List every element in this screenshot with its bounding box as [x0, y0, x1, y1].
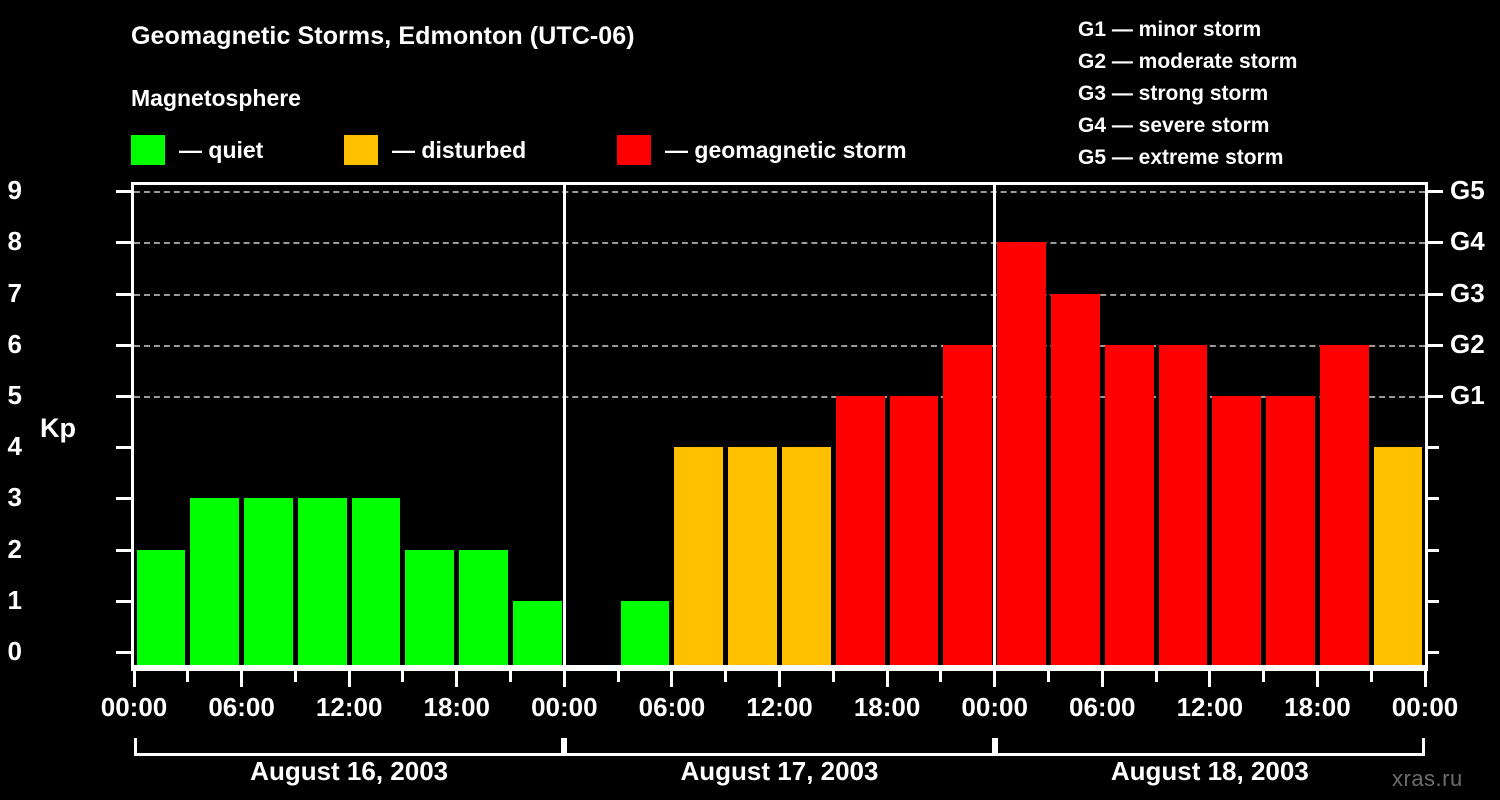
legend-label: — disturbed [392, 139, 526, 162]
y-tick-label-3: 3 [0, 484, 22, 510]
y-tick-mark-3 [116, 497, 131, 500]
x-minor-tick-mark [724, 671, 727, 682]
x-minor-tick-mark [617, 671, 620, 682]
x-tick-mark [563, 671, 566, 687]
bar [1105, 345, 1154, 665]
x-tick-label: 00:00 [961, 692, 1028, 723]
y-tick-label-4: 4 [0, 433, 22, 459]
geomagnetic-storm-chart: Geomagnetic Storms, Edmonton (UTC-06) Ma… [0, 0, 1500, 800]
y-tick-mark-8 [116, 241, 131, 244]
bar [728, 447, 777, 665]
g-legend-row-3: G3 — strong storm [1078, 78, 1408, 110]
x-tick-label: 18:00 [424, 692, 491, 723]
x-minor-tick-mark [1370, 671, 1373, 682]
g-legend-row-5: G5 — extreme storm [1078, 142, 1408, 174]
y-tick-label-8: 8 [0, 228, 22, 254]
bar [1374, 447, 1423, 665]
g-minor-tick-kp-1 [1428, 600, 1439, 603]
y-tick-mark-5 [116, 395, 131, 398]
legend-swatch-icon [617, 135, 651, 165]
day-label: August 18, 2003 [1111, 756, 1309, 787]
y-tick-mark-4 [116, 446, 131, 449]
y-tick-label-2: 2 [0, 536, 22, 562]
x-tick-mark [455, 671, 458, 687]
bar [190, 498, 239, 665]
bar [298, 498, 347, 665]
bar [1320, 345, 1369, 665]
bar [513, 601, 562, 665]
x-minor-tick-mark [1262, 671, 1265, 682]
x-tick-label: 06:00 [639, 692, 706, 723]
g-tick-mark-G2 [1428, 344, 1443, 347]
y-tick-mark-0 [116, 651, 131, 654]
x-tick-mark [886, 671, 889, 687]
bar [244, 498, 293, 665]
x-tick-mark [1424, 671, 1427, 687]
bar [1212, 396, 1261, 665]
page-title: Geomagnetic Storms, Edmonton (UTC-06) [131, 22, 635, 51]
x-tick-mark [348, 671, 351, 687]
bar [352, 498, 401, 665]
x-tick-mark [133, 671, 136, 687]
gridline-kp-9 [134, 191, 1425, 193]
bar [943, 345, 992, 665]
bar [782, 447, 831, 665]
x-tick-label: 12:00 [316, 692, 383, 723]
g-tick-mark-G3 [1428, 293, 1443, 296]
bar [137, 550, 186, 665]
storm-legend: — geomagnetic storm [617, 133, 907, 167]
x-minor-tick-mark [1047, 671, 1050, 682]
chart-subtitle: Magnetosphere [131, 85, 301, 112]
day-separator [993, 185, 996, 665]
quiet-legend: — quiet [131, 133, 263, 167]
x-tick-label: 00:00 [531, 692, 598, 723]
gridline-kp-7 [134, 294, 1425, 296]
legend-swatch-icon [131, 135, 165, 165]
y-tick-mark-1 [116, 600, 131, 603]
g-minor-tick-kp-3 [1428, 497, 1439, 500]
day-bracket [134, 738, 564, 756]
y-axis-label: Kp [40, 413, 76, 444]
x-tick-label: 06:00 [208, 692, 275, 723]
y-tick-mark-7 [116, 293, 131, 296]
bar [405, 550, 454, 665]
day-label: August 16, 2003 [250, 756, 448, 787]
y-tick-label-1: 1 [0, 587, 22, 613]
legend-swatch-icon [344, 135, 378, 165]
x-minor-tick-mark [509, 671, 512, 682]
watermark: xras.ru [1392, 766, 1463, 792]
y-tick-mark-2 [116, 549, 131, 552]
x-tick-label: 00:00 [1392, 692, 1459, 723]
g-tick-label-G4: G4 [1450, 228, 1485, 254]
x-tick-label: 06:00 [1069, 692, 1136, 723]
g-minor-tick-kp-2 [1428, 549, 1439, 552]
y-tick-label-6: 6 [0, 331, 22, 357]
x-tick-mark [670, 671, 673, 687]
bar [1051, 294, 1100, 665]
x-tick-mark [240, 671, 243, 687]
y-tick-mark-9 [116, 190, 131, 193]
legend-label: — geomagnetic storm [665, 139, 907, 162]
gridline-kp-8 [134, 242, 1425, 244]
day-separator [563, 185, 566, 665]
x-tick-mark [1316, 671, 1319, 687]
x-minor-tick-mark [1155, 671, 1158, 682]
plot-area [131, 182, 1428, 668]
g-legend-row-4: G4 — severe storm [1078, 110, 1408, 142]
x-tick-label: 18:00 [1284, 692, 1351, 723]
g-legend-row-2: G2 — moderate storm [1078, 46, 1408, 78]
bar [997, 242, 1046, 665]
plot-inner [134, 185, 1425, 665]
x-minor-tick-mark [294, 671, 297, 682]
y-tick-label-9: 9 [0, 177, 22, 203]
day-bracket [995, 738, 1425, 756]
bar [1266, 396, 1315, 665]
x-minor-tick-mark [939, 671, 942, 682]
x-tick-label: 18:00 [854, 692, 921, 723]
y-tick-label-5: 5 [0, 382, 22, 408]
g-scale-legend: G1 — minor stormG2 — moderate stormG3 — … [1078, 14, 1408, 174]
bar [674, 447, 723, 665]
bar [1159, 345, 1208, 665]
g-minor-tick-kp-0 [1428, 651, 1439, 654]
x-tick-label: 12:00 [1177, 692, 1244, 723]
x-tick-label: 00:00 [101, 692, 168, 723]
disturbed-legend: — disturbed [344, 133, 526, 167]
x-minor-tick-mark [186, 671, 189, 682]
x-tick-label: 12:00 [746, 692, 813, 723]
g-tick-mark-G1 [1428, 395, 1443, 398]
g-tick-mark-G5 [1428, 190, 1443, 193]
y-tick-label-7: 7 [0, 280, 22, 306]
gridline-kp-6 [134, 345, 1425, 347]
x-tick-mark [778, 671, 781, 687]
day-label: August 17, 2003 [681, 756, 879, 787]
g-tick-label-G3: G3 [1450, 280, 1485, 306]
y-tick-mark-6 [116, 344, 131, 347]
x-minor-tick-mark [401, 671, 404, 682]
bar [459, 550, 508, 665]
g-tick-label-G1: G1 [1450, 382, 1485, 408]
bar [836, 396, 885, 665]
g-minor-tick-kp-4 [1428, 446, 1439, 449]
legend-label: — quiet [179, 139, 263, 162]
y-tick-label-0: 0 [0, 638, 22, 664]
day-bracket [564, 738, 994, 756]
g-legend-row-1: G1 — minor storm [1078, 14, 1408, 46]
x-tick-mark [993, 671, 996, 687]
g-tick-mark-G4 [1428, 241, 1443, 244]
bar [890, 396, 939, 665]
bar [621, 601, 670, 665]
x-minor-tick-mark [832, 671, 835, 682]
x-tick-mark [1208, 671, 1211, 687]
x-tick-mark [1101, 671, 1104, 687]
g-tick-label-G5: G5 [1450, 177, 1485, 203]
g-tick-label-G2: G2 [1450, 331, 1485, 357]
